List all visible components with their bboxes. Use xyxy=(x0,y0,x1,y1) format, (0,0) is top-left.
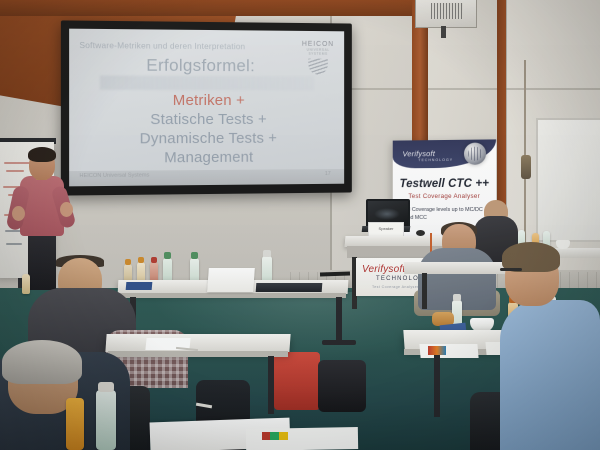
verifysoft-logo: Verifysoft xyxy=(403,149,436,158)
projector-vent xyxy=(431,3,463,19)
color-swatch-print xyxy=(262,432,288,440)
presenter-hair xyxy=(28,147,56,162)
slide-title: Erfolgsformel: xyxy=(69,55,329,76)
binder xyxy=(256,283,323,292)
seminar-room-photo: Software-Metriken und deren Interpretati… xyxy=(0,0,600,450)
banner-globe-grid-icon xyxy=(468,147,482,161)
flipchart-scribble xyxy=(6,243,22,245)
bottle-cap xyxy=(125,259,131,265)
projector-mount-arm xyxy=(441,26,446,38)
slide-line-4: Management xyxy=(69,148,344,167)
bottle-cap xyxy=(164,252,171,259)
slide-line-3: Dynamische Tests + xyxy=(69,130,344,148)
heicon-logo-mark-icon xyxy=(308,59,327,75)
wall-seam-h xyxy=(330,88,600,90)
slide-footer-note: HEICON Universal Systems xyxy=(79,172,149,179)
slide-ghost-text xyxy=(100,76,314,91)
flipchart-scribble xyxy=(6,170,24,172)
blue-notepad xyxy=(126,282,153,290)
heicon-logo: HEICON UNIVERSAL SYSTEMS xyxy=(298,41,339,75)
table-leg xyxy=(336,297,342,343)
mid-table-edge xyxy=(120,293,346,298)
wooden-beam-top xyxy=(0,0,430,16)
table-leg xyxy=(268,356,274,414)
banner-headline: Testwell CTC ++ xyxy=(393,178,496,190)
whiteboard xyxy=(536,118,600,242)
projector xyxy=(415,0,477,28)
black-bag xyxy=(318,360,366,412)
table-foot xyxy=(322,340,356,345)
wall-hook xyxy=(521,155,531,179)
eyeglasses xyxy=(500,268,522,271)
banner-body-text: All Coverage levels up to MC/DC and MCC xyxy=(404,206,488,222)
flipchart-scribble xyxy=(4,162,30,164)
table-sign-tagline: Test Coverage Analyser xyxy=(372,285,419,289)
speaker-name-card-text: Speaker xyxy=(371,226,401,231)
paper-sheet xyxy=(207,268,255,292)
water-bottle xyxy=(96,390,116,450)
attendee-hair xyxy=(2,340,82,384)
juice-bottle xyxy=(22,274,30,294)
heicon-logo-sub: UNIVERSAL SYSTEMS xyxy=(298,48,339,56)
verifysoft-logo-sub: TECHNOLOGY xyxy=(418,158,453,162)
bottle-cap xyxy=(453,294,461,301)
screen-surface: Software-Metriken und deren Interpretati… xyxy=(69,29,344,187)
projection-screen: Software-Metriken und deren Interpretati… xyxy=(61,20,352,195)
presenter-legs xyxy=(28,228,56,290)
slide-line-1: Metriken + xyxy=(69,92,344,109)
presenter-hand-right xyxy=(60,202,73,217)
bottle-cap xyxy=(191,252,198,259)
color-swatch-print xyxy=(428,346,446,355)
slide-line-2: Statische Tests + xyxy=(69,111,344,128)
presentation-slide: Software-Metriken und deren Interpretati… xyxy=(69,29,344,187)
near-left-table-edge xyxy=(108,351,288,357)
table-sign-brand: Verifysoft xyxy=(362,264,405,275)
bottle-cap xyxy=(138,257,144,263)
slide-header: Software-Metriken und deren Interpretati… xyxy=(79,41,270,52)
juice-bottle xyxy=(66,398,84,450)
bottle-cap xyxy=(151,257,157,263)
table-leg xyxy=(434,355,440,417)
laptop-screen-glow xyxy=(374,208,400,220)
table-leg xyxy=(422,273,427,309)
bottle-cap xyxy=(98,382,114,392)
bottle-cap xyxy=(263,250,271,257)
red-bag xyxy=(274,352,320,410)
presenter-hand-left xyxy=(12,206,25,221)
slide-page-number: 17 xyxy=(325,171,331,177)
attendee-body xyxy=(500,300,600,450)
